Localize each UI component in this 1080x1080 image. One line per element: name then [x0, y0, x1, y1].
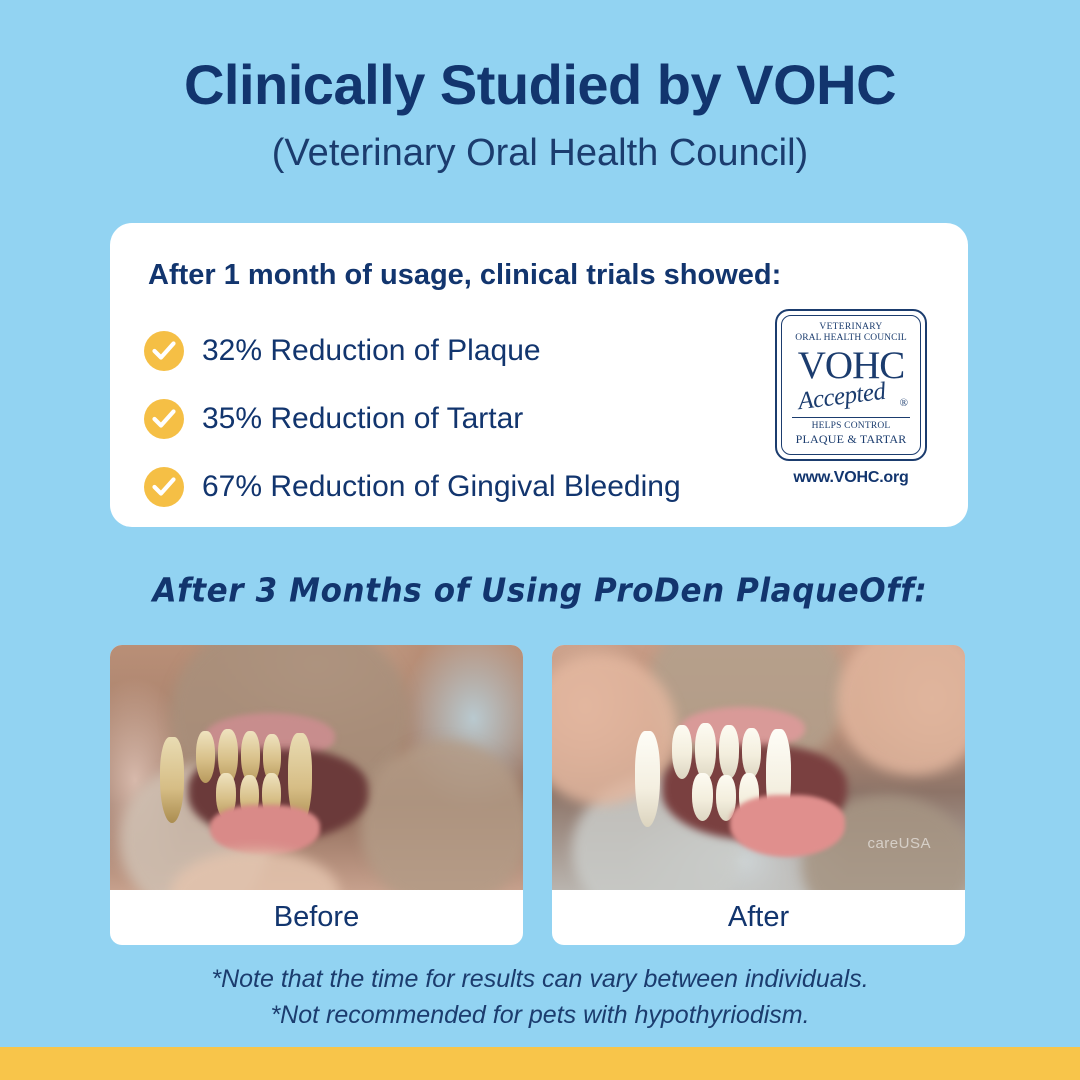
tooth: [672, 725, 692, 779]
vohc-website-url: www.VOHC.org: [768, 469, 934, 487]
before-label: Before: [110, 890, 523, 945]
results-bullet-list: 32% Reduction of Plaque 35% Reduction of…: [144, 319, 784, 523]
canine-tooth: [160, 737, 184, 823]
seal-accepted-row: Accepted ®: [782, 385, 920, 415]
seal-line-plaque-tartar: PLAQUE & TARTAR: [782, 432, 920, 446]
bullet-label: 35% Reduction of Tartar: [202, 402, 523, 436]
footnote-line: *Note that the time for results can vary…: [0, 962, 1080, 998]
seal-inner-border: VETERINARY ORAL HEALTH COUNCIL VOHC Acce…: [781, 315, 921, 455]
comparison-caption: After 3 Months of Using ProDen PlaqueOff…: [0, 572, 1080, 610]
canine-tooth: [635, 731, 660, 827]
tooth: [742, 728, 761, 778]
check-icon: [144, 467, 184, 507]
bullet-label: 67% Reduction of Gingival Bleeding: [202, 470, 681, 504]
before-photo-card: Before: [110, 645, 523, 945]
seal-border: VETERINARY ORAL HEALTH COUNCIL VOHC Acce…: [775, 309, 927, 461]
tooth: [196, 731, 215, 783]
list-item: 67% Reduction of Gingival Bleeding: [144, 455, 784, 519]
registered-trademark-icon: ®: [900, 397, 908, 409]
clinical-results-card: After 1 month of usage, clinical trials …: [110, 223, 968, 527]
bullet-label: 32% Reduction of Plaque: [202, 334, 541, 368]
bottom-accent-bar: [0, 1047, 1080, 1080]
dog-mouth-photo-before: [110, 645, 523, 890]
tongue-region: [210, 805, 320, 855]
photo-watermark: careUSA: [867, 835, 931, 852]
page-title: Clinically Studied by VOHC: [0, 56, 1080, 115]
footnote-line: *Not recommended for pets with hypothyri…: [0, 998, 1080, 1034]
footnotes: *Note that the time for results can vary…: [0, 962, 1080, 1033]
seal-line-helps-control: HELPS CONTROL: [782, 421, 920, 432]
dog-mouth-photo-after: careUSA: [552, 645, 965, 890]
infographic-page: Clinically Studied by VOHC (Veterinary O…: [0, 0, 1080, 1080]
after-photo-card: careUSA After: [552, 645, 965, 945]
seal-wordmark: VOHC: [782, 346, 920, 385]
seal-line-veterinary: VETERINARY: [782, 322, 920, 333]
after-label: After: [552, 890, 965, 945]
seal-line-council: ORAL HEALTH COUNCIL: [782, 333, 920, 344]
seal-divider: [792, 417, 910, 418]
check-icon: [144, 331, 184, 371]
results-card-title: After 1 month of usage, clinical trials …: [148, 259, 781, 292]
page-subtitle: (Veterinary Oral Health Council): [0, 132, 1080, 176]
list-item: 35% Reduction of Tartar: [144, 387, 784, 451]
vohc-accepted-seal: VETERINARY ORAL HEALTH COUNCIL VOHC Acce…: [768, 309, 934, 499]
tooth: [719, 725, 739, 779]
check-icon: [144, 399, 184, 439]
list-item: 32% Reduction of Plaque: [144, 319, 784, 383]
tooth: [692, 773, 713, 821]
tooth: [695, 723, 716, 780]
tongue-region: [730, 795, 845, 857]
